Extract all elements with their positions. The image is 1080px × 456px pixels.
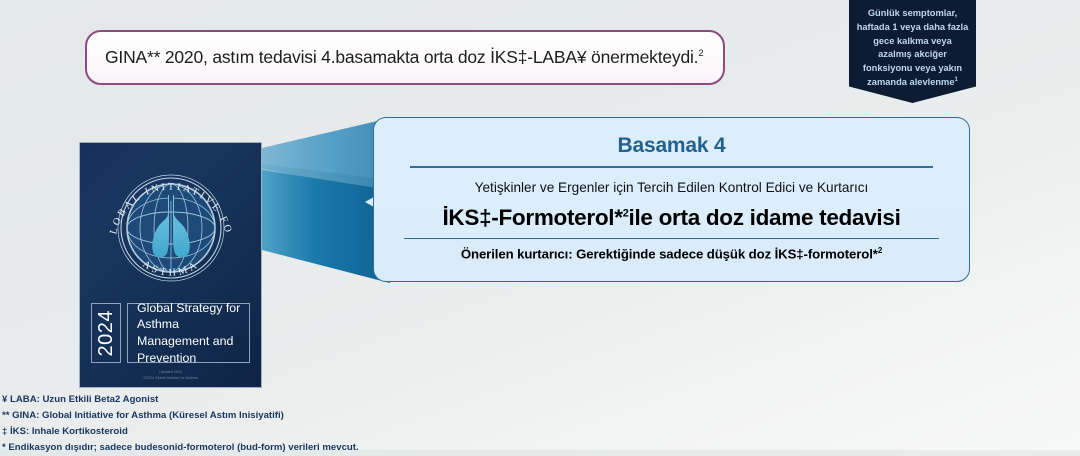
footnote-line-indication: * Endikasyon dışıdır; sadece budesonid-f… — [2, 440, 522, 456]
footnote-line-laba: ¥ LABA: Uzun Etkili Beta2 Agonist — [2, 392, 522, 408]
gina-callout-text: GINA** 2020, astım tedavisi 4.basamakta … — [105, 47, 703, 68]
book-title-cell: Global Strategy for Asthma Management an… — [127, 303, 250, 363]
symptom-criteria-text: Günlük semptomlar, haftada 1 veya daha f… — [856, 7, 969, 90]
symptom-criteria-inner: Günlük semptomlar, haftada 1 veya daha f… — [849, 0, 976, 103]
step-panel-divider-top — [410, 166, 933, 168]
book-year: 2024 — [95, 310, 118, 357]
footnote-block: ¥ LABA: Uzun Etkili Beta2 Agonist ** GIN… — [2, 392, 522, 456]
gina-globe-lungs-logo-icon: GLOBAL INITIATIVE FOR ASTHMA — [100, 157, 242, 299]
symptom-criteria-body: Günlük semptomlar, haftada 1 veya daha f… — [857, 8, 969, 87]
gina-callout-superscript: 2 — [698, 48, 703, 59]
step-panel-main-treatment: İKS‡-Formoterol*2ile orta doz idame teda… — [396, 205, 947, 231]
book-year-cell: 2024 — [91, 303, 121, 363]
step-panel-rescue-superscript: 2 — [878, 246, 882, 255]
step-panel-subtitle: Yetişkinler ve Ergenler için Tercih Edil… — [396, 180, 947, 195]
symptom-criteria-superscript: 1 — [955, 77, 958, 83]
step-panel-rescue-line: Önerilen kurtarıcı: Gerektiğinde sadece … — [396, 246, 947, 261]
book-cover-footnote: Updated 2024 ©2024 Global Initiative for… — [80, 369, 261, 381]
step-panel-main-part2: ile orta doz idame tedavisi — [629, 205, 901, 230]
footnote-line-gina: ** GINA: Global Initiative for Asthma (K… — [2, 408, 522, 424]
basamak-4-panel: Basamak 4 Yetişkinler ve Ergenler için T… — [373, 117, 970, 282]
book-title-block: 2024 Global Strategy for Asthma Manageme… — [91, 303, 250, 363]
step-panel-rescue-body: Önerilen kurtarıcı: Gerektiğinde sadece … — [461, 246, 878, 261]
step-panel-main-part1: İKS‡-Formoterol* — [442, 205, 622, 230]
left-pointing-arrow-icon — [262, 118, 390, 283]
book-title: Global Strategy for Asthma Management an… — [137, 300, 249, 367]
step-panel-divider-bottom — [404, 238, 939, 240]
gina-callout-body: GINA** 2020, astım tedavisi 4.basamakta … — [105, 47, 698, 67]
step-panel-title: Basamak 4 — [396, 134, 947, 158]
slide-canvas: GINA** 2020, astım tedavisi 4.basamakta … — [0, 0, 1080, 450]
book-footnote-line-2: ©2024 Global Initiative for Asthma — [80, 375, 261, 381]
gina-2024-report-cover: GLOBAL INITIATIVE FOR ASTHMA 2024 Global… — [79, 142, 262, 388]
gina-2020-callout: GINA** 2020, astım tedavisi 4.basamakta … — [85, 30, 725, 85]
footnote-line-iks: ‡ İKS: Inhale Kortikosteroid — [2, 424, 522, 440]
symptom-criteria-box: Günlük semptomlar, haftada 1 veya daha f… — [849, 0, 976, 103]
